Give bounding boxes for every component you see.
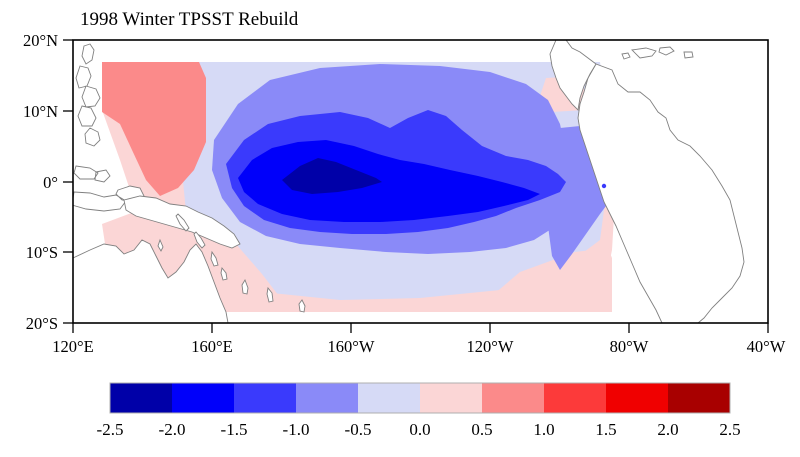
colorbar-swatch-0.5-to-1 xyxy=(482,383,545,413)
colorbar-tick-label-3: -1.0 xyxy=(283,420,310,439)
colorbar-tick-label-8: 1.5 xyxy=(595,420,616,439)
colorbar-tick-label-1: -2.0 xyxy=(159,420,186,439)
y-tick-label-1: 10°N xyxy=(23,102,58,121)
colorbar-tick-label-10: 2.5 xyxy=(719,420,740,439)
colorbar-tick-label-4: -0.5 xyxy=(345,420,372,439)
colorbar-swatch--1-to--0.5 xyxy=(296,383,359,413)
colorbar-tick-label-6: 0.5 xyxy=(471,420,492,439)
page-title: 1998 Winter TPSST Rebuild xyxy=(80,9,299,30)
sst-anomaly-figure: 1998 Winter TPSST Rebuild xyxy=(0,0,800,457)
colorbar-tick-label-7: 1.0 xyxy=(533,420,554,439)
x-tick-label-5: 40°W xyxy=(747,337,786,356)
colorbar-swatch--2.5-to--2 xyxy=(110,383,173,413)
colorbar-swatch--2-to--1.5 xyxy=(172,383,235,413)
x-tick-label-3: 120°W xyxy=(467,337,514,356)
colorbar-swatch--1.5-to--1 xyxy=(234,383,297,413)
contour-fill-group xyxy=(72,40,768,323)
x-tick-label-1: 160°E xyxy=(191,337,232,356)
colorbar-swatch-1-to-1.5 xyxy=(544,383,607,413)
y-tick-label-4: 20°S xyxy=(26,314,58,333)
colorbar-swatch-group xyxy=(110,383,731,413)
map-panel: 120°E 160°E 160°W 120°W 80°W 40°W 20°N 1… xyxy=(23,31,786,356)
y-tick-label-2: 0° xyxy=(43,173,58,192)
landmass-galapagos xyxy=(602,184,606,188)
y-tick-label-0: 20°N xyxy=(23,31,58,50)
y-tick-label-3: 10°S xyxy=(26,243,58,262)
colorbar-swatch--0.5-to-0 xyxy=(358,383,421,413)
colorbar-swatch-2-to-2.5 xyxy=(668,383,731,413)
colorbar-tick-label-5: 0.0 xyxy=(409,420,430,439)
colorbar-swatch-0-to-0.5 xyxy=(420,383,483,413)
x-tick-label-2: 160°W xyxy=(328,337,375,356)
colorbar-tick-label-2: -1.5 xyxy=(221,420,248,439)
colorbar-tick-label-9: 2.0 xyxy=(657,420,678,439)
x-tick-label-0: 120°E xyxy=(52,337,93,356)
colorbar-swatch-1.5-to-2 xyxy=(606,383,669,413)
colorbar-tick-label-0: -2.5 xyxy=(97,420,124,439)
x-tick-label-4: 80°W xyxy=(610,337,649,356)
